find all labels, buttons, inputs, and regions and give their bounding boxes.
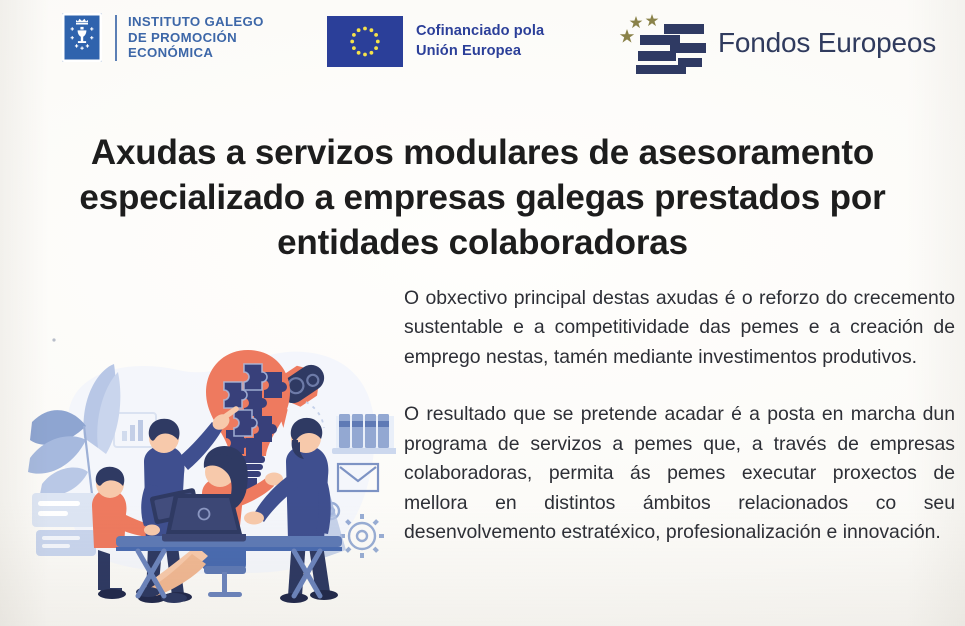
page-title: Axudas a servizos modulares de asesorame… [32, 131, 933, 265]
logo-divider [115, 15, 117, 61]
paragraph-objective: O obxectivo principal destas axudas é o … [404, 284, 955, 372]
eu-wordmark: Cofinanciado pola Unión Europea [416, 22, 544, 61]
galicia-coat-of-arms-icon [62, 13, 102, 62]
fondos-europeos-wordmark: Fondos Europeos [718, 29, 936, 57]
logo-igape: INSTITUTO GALEGO DE PROMOCIÓN ECONÓMICA [62, 13, 264, 62]
fondos-europeos-stripes-icon [618, 10, 710, 76]
paragraph-result: O resultado que se pretende acadar é a p… [404, 400, 955, 547]
flyer-page: INSTITUTO GALEGO DE PROMOCIÓN ECONÓMICA [0, 0, 965, 626]
igape-wordmark: INSTITUTO GALEGO DE PROMOCIÓN ECONÓMICA [128, 14, 264, 60]
logo-fondos-europeos: Fondos Europeos [618, 10, 936, 76]
logo-european-union: Cofinanciado pola Unión Europea [327, 16, 544, 67]
team-collaboration-illustration [6, 298, 396, 618]
eu-flag-icon [327, 16, 403, 67]
logo-bar: INSTITUTO GALEGO DE PROMOCIÓN ECONÓMICA [0, 0, 965, 92]
body-copy: O obxectivo principal destas axudas é o … [404, 284, 955, 548]
